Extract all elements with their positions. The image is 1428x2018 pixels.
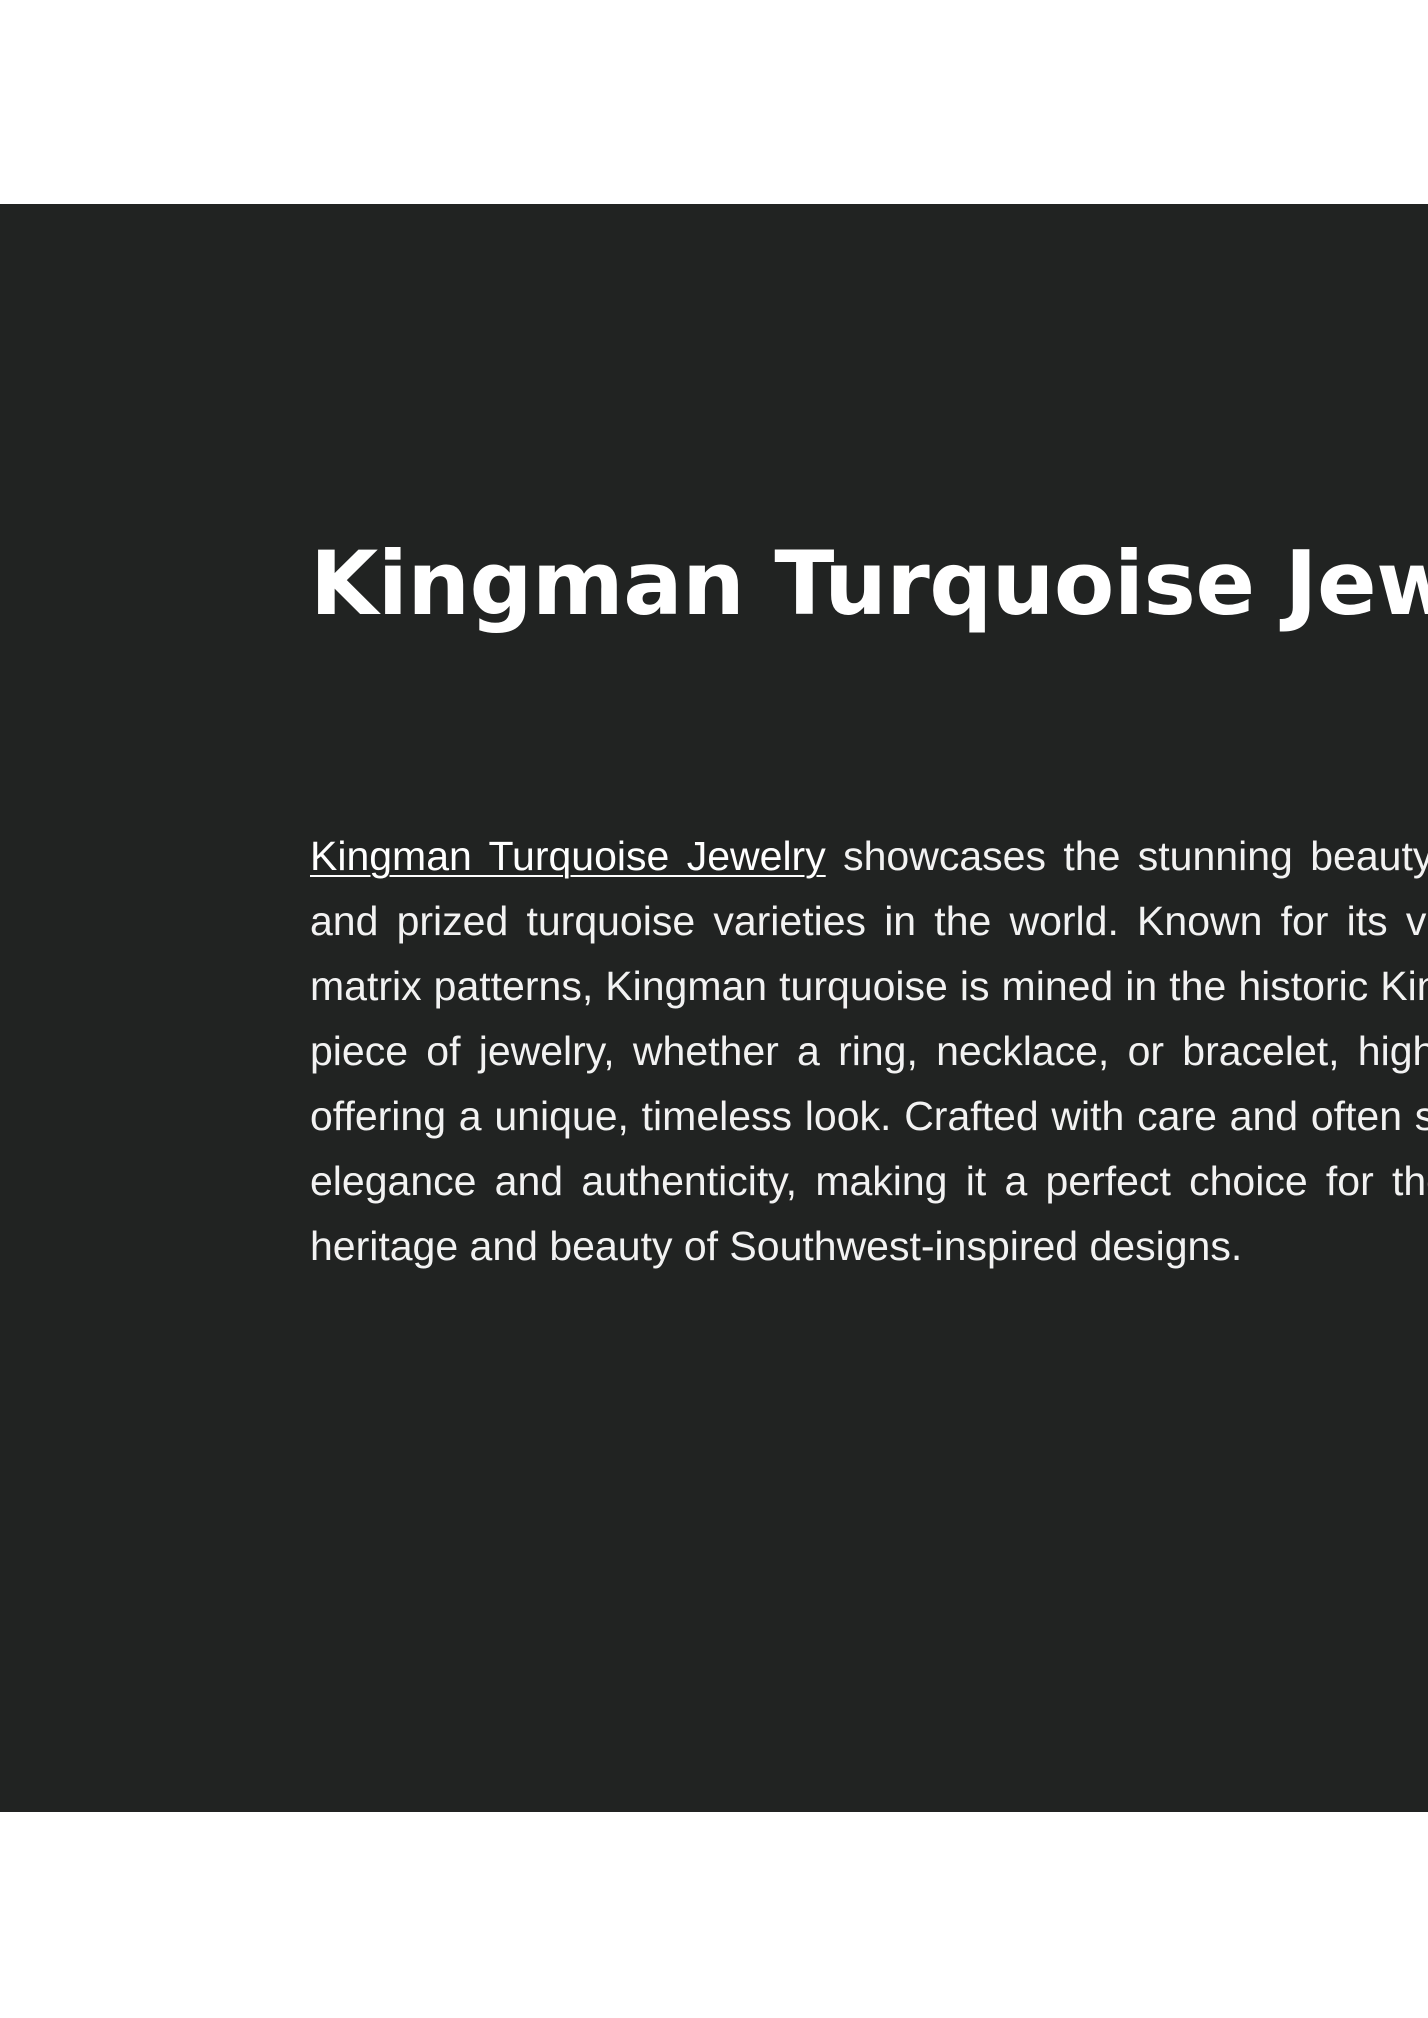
hero-section: Kingman Turquoise Jewelry Kingman Turquo… [0, 204, 1428, 1812]
page-root: Kingman Turquoise Jewelry Kingman Turquo… [0, 0, 1428, 2018]
hero-description: Kingman Turquoise Jewelry showcases the … [310, 824, 1428, 1279]
hero-description-body: showcases the stunning beauty of one of … [310, 833, 1428, 1269]
kingman-turquoise-jewelry-link[interactable]: Kingman Turquoise Jewelry [310, 833, 826, 879]
page-title: Kingman Turquoise Jewelry [310, 535, 1428, 634]
